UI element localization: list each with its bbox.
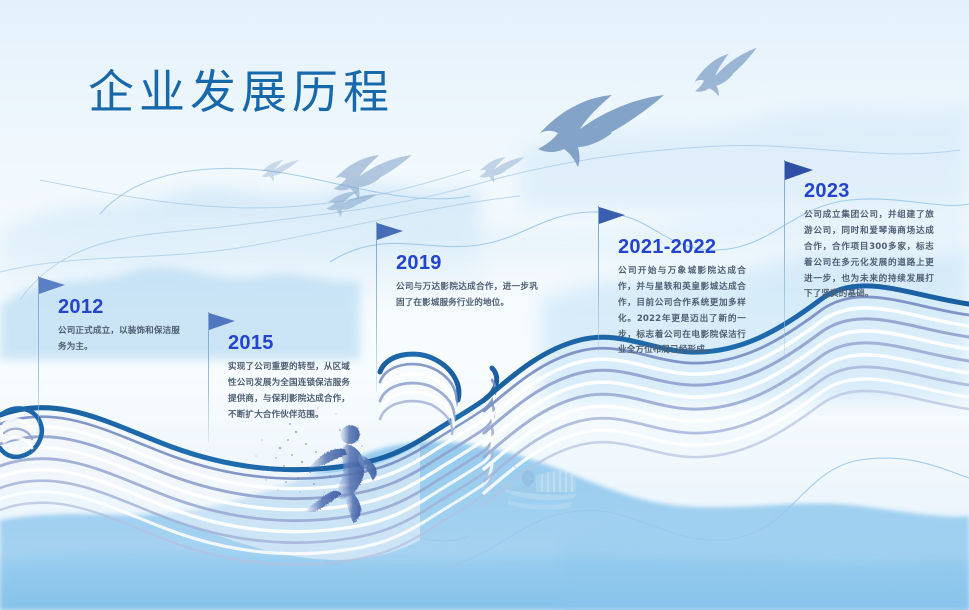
milestone-description: 公司与万达影院达成合作，进一步巩固了在影城服务行业的地位。 [396, 280, 538, 312]
milestone-description: 公司成立集团公司，并组建了旅游公司，同时和爱琴海商场达成合作，合作项目300多家… [804, 208, 934, 303]
flag-marker-icon [785, 160, 817, 182]
milestone-description: 公司正式成立，以装饰和保洁服务为主。 [58, 324, 180, 356]
poster-canvas: 企业发展历程 2012 公司正式成立，以装饰和保洁服务为主。 2015 实现了公… [0, 0, 969, 610]
milestone-description: 实现了公司重要的转型，从区域性公司发展为全国连锁保洁服务提供商，与保利影院达成合… [228, 360, 350, 424]
milestone-year: 2023 [804, 180, 850, 203]
milestone-year: 2021-2022 [618, 236, 716, 259]
flag-pole [376, 222, 377, 392]
flag-pole [598, 206, 599, 354]
flag-marker-icon [39, 276, 69, 296]
milestone-year: 2019 [396, 252, 442, 275]
milestone-year: 2012 [58, 296, 104, 319]
milestone-year: 2015 [228, 332, 274, 355]
page-title: 企业发展历程 [88, 56, 394, 122]
flag-pole [784, 160, 785, 360]
flag-marker-icon [209, 312, 239, 332]
flag-pole [38, 276, 39, 436]
flag-marker-icon [599, 206, 629, 226]
flag-marker-icon [377, 222, 407, 242]
milestone-description: 公司开始与万象城影院达成合作，并与星轶和英皇影城达成合作，目前公司合作系统更加多… [618, 264, 746, 359]
